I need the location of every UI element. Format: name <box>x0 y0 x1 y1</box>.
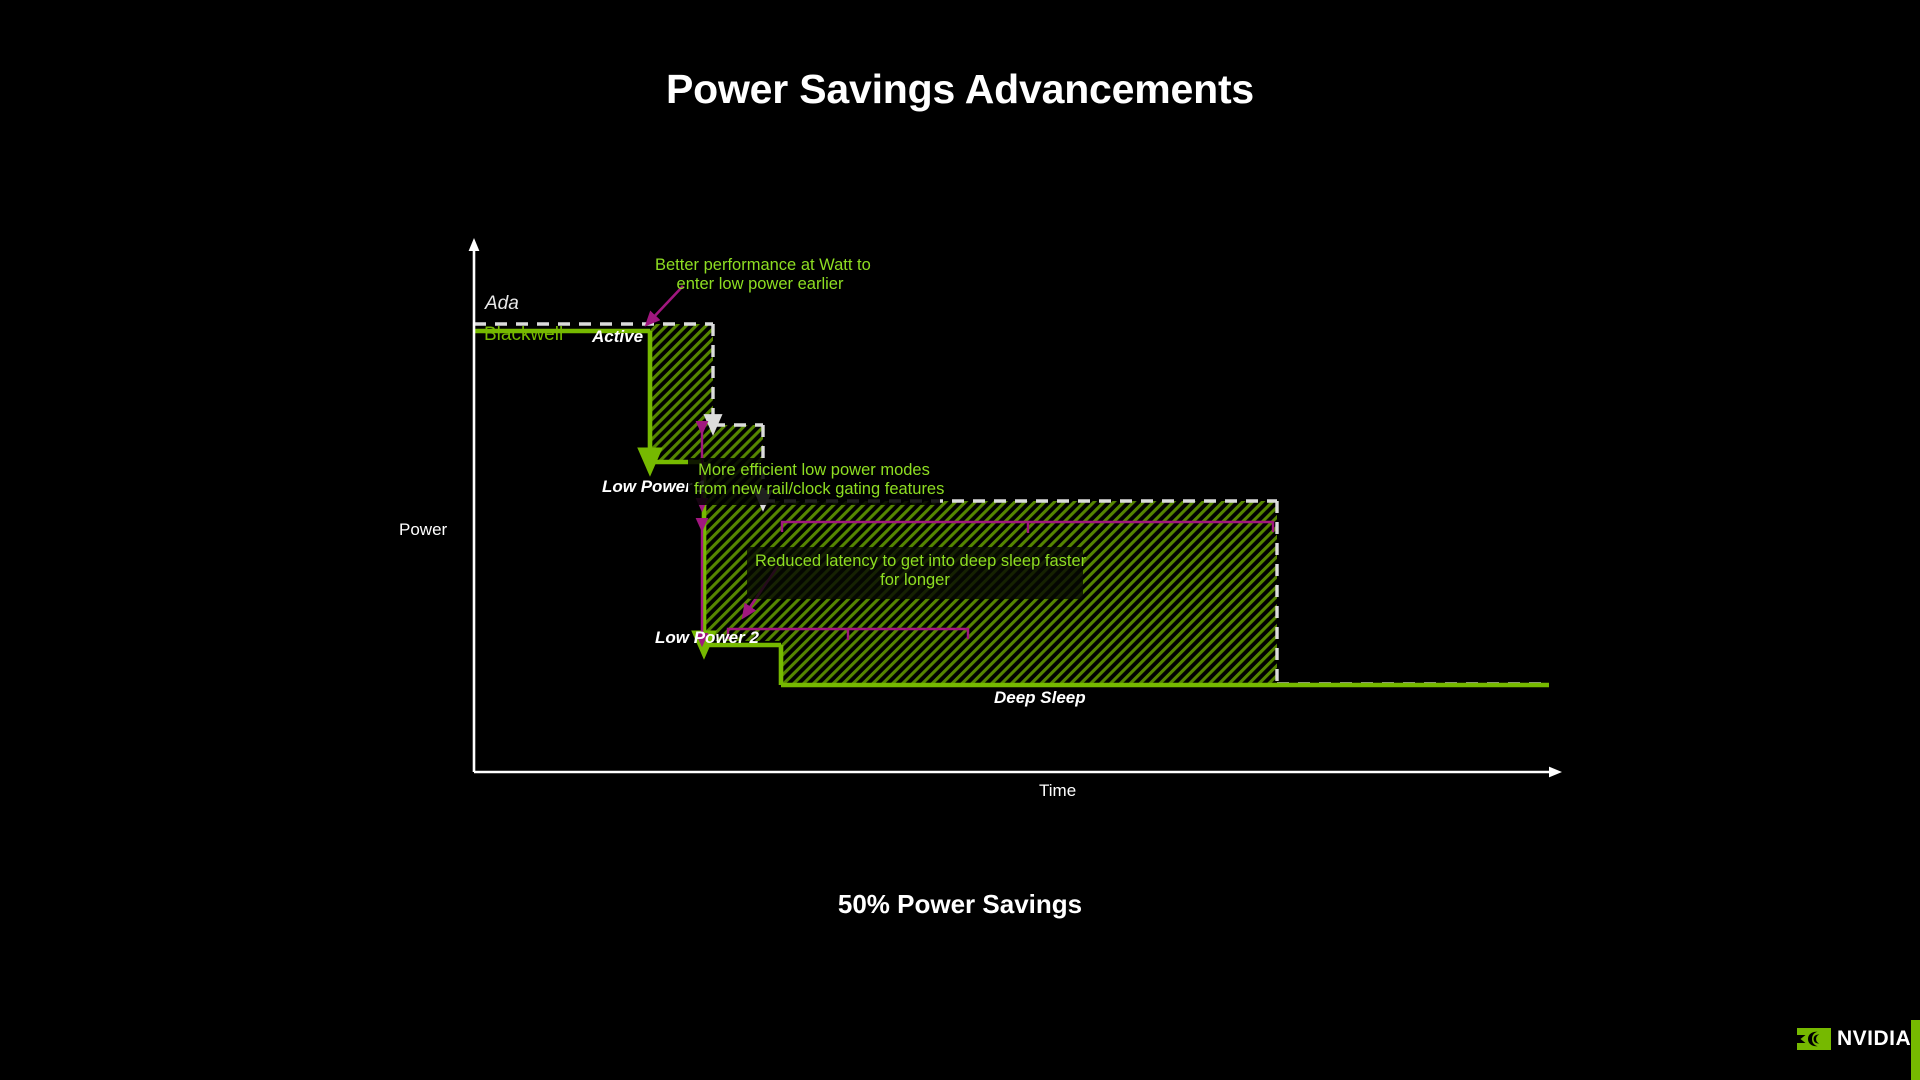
nvidia-logo: NVIDIA <box>1797 1027 1911 1051</box>
annotation-line-2: from new rail/clock gating features <box>694 480 934 499</box>
footer-statement: 50% Power Savings <box>0 889 1920 920</box>
x-axis-arrowhead <box>1549 767 1562 778</box>
annotation-line-2: for longer <box>755 571 1075 590</box>
state-label-active: Active <box>592 327 643 347</box>
x-axis-label: Time <box>1039 781 1076 801</box>
brand-edge-bar <box>1911 1020 1920 1080</box>
annotation-line-1: Better performance at Watt to <box>655 256 865 275</box>
annotation-line-2: enter low power earlier <box>655 275 865 294</box>
annotation-line-1: More efficient low power modes <box>694 461 934 480</box>
annotation-line-1: Reduced latency to get into deep sleep f… <box>755 552 1075 571</box>
y-axis-label: Power <box>399 520 447 540</box>
annotation-better-performance: Better performance at Watt to enter low … <box>655 256 865 295</box>
nvidia-wordmark: NVIDIA <box>1837 1027 1911 1051</box>
y-axis-arrowhead <box>469 238 480 251</box>
annotation-efficient-low-power-modes: More efficient low power modes from new … <box>688 458 940 505</box>
state-label-deep-sleep: Deep Sleep <box>994 688 1086 708</box>
legend-item-blackwell: Blackwell <box>484 324 563 346</box>
slide-root: Power Savings Advancements <box>0 0 1920 1080</box>
nvidia-eye-icon <box>1797 1028 1831 1050</box>
legend-item-ada: Ada <box>485 293 519 315</box>
state-label-low-power-2: Low Power 2 <box>655 628 759 648</box>
annotation-reduced-latency: Reduced latency to get into deep sleep f… <box>747 547 1083 599</box>
